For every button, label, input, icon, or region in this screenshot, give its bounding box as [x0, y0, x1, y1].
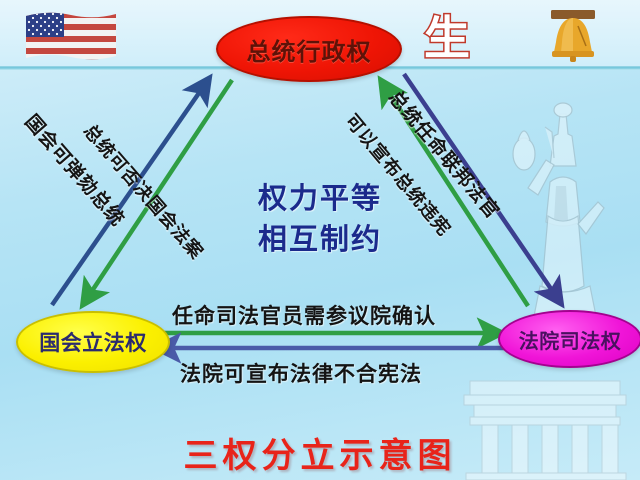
edge-label-senate-confirm: 任命司法官员需参议院确认: [172, 300, 436, 330]
node-president[interactable]: 总统行政权: [216, 16, 402, 82]
edge-label-law-unconstitutional: 法院可宣布法律不合宪法: [180, 358, 422, 388]
center-slogan-line1: 权力平等: [222, 178, 418, 219]
diagram-title: 三权分立示意图: [0, 428, 640, 477]
center-slogan-line2: 相互制约: [222, 219, 418, 260]
node-congress[interactable]: 国会立法权: [16, 311, 170, 373]
node-court[interactable]: 法院司法权: [498, 310, 640, 368]
diagram-canvas: 生: [0, 0, 640, 480]
center-slogan: 权力平等 相互制约: [222, 178, 418, 260]
